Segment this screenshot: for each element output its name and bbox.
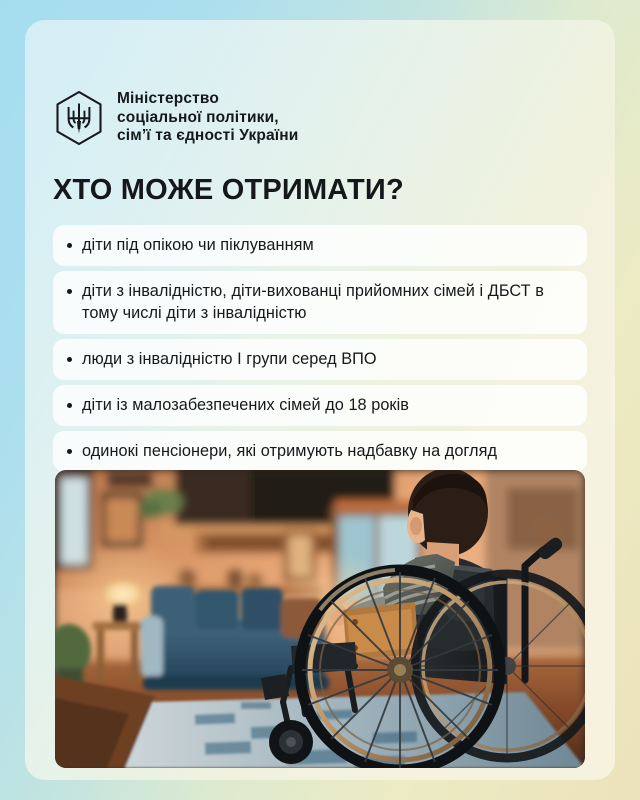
ukraine-trident-hexagon-emblem-icon (54, 90, 104, 146)
bullet-dot-icon (67, 449, 72, 454)
list-item: діти із малозабезпечених сімей до 18 рок… (53, 385, 587, 426)
eligibility-list: діти під опікою чи піклуванням діти з ін… (53, 225, 587, 472)
page-title: ХТО МОЖЕ ОТРИМАТИ? (53, 174, 404, 207)
bullet-dot-icon (67, 243, 72, 248)
list-item: одинокі пенсіонери, які отримують надбав… (53, 431, 587, 472)
bullet-dot-icon (67, 357, 72, 362)
list-item-label: діти із малозабезпечених сімей до 18 рок… (82, 394, 409, 416)
content-card: Міністерство соціальної політики, сім’ї … (25, 20, 615, 780)
list-item: діти з інвалідністю, діти-вихованці прий… (53, 271, 587, 334)
poster-background: Міністерство соціальної політики, сім’ї … (0, 0, 640, 800)
list-item-label: діти під опікою чи піклуванням (82, 234, 314, 256)
list-item-label: діти з інвалідністю, діти-вихованці прий… (82, 280, 573, 324)
list-item-label: одинокі пенсіонери, які отримують надбав… (82, 440, 497, 462)
boy-in-wheelchair-living-room-photo (55, 470, 585, 768)
bullet-dot-icon (67, 403, 72, 408)
list-item: люди з інвалідністю I групи серед ВПО (53, 339, 587, 380)
list-item: діти під опікою чи піклуванням (53, 225, 587, 266)
ministry-name-text: Міністерство соціальної політики, сім’ї … (117, 90, 298, 146)
ministry-logo: Міністерство соціальної політики, сім’ї … (54, 90, 298, 146)
bullet-dot-icon (67, 289, 72, 294)
list-item-label: люди з інвалідністю I групи серед ВПО (82, 348, 377, 370)
